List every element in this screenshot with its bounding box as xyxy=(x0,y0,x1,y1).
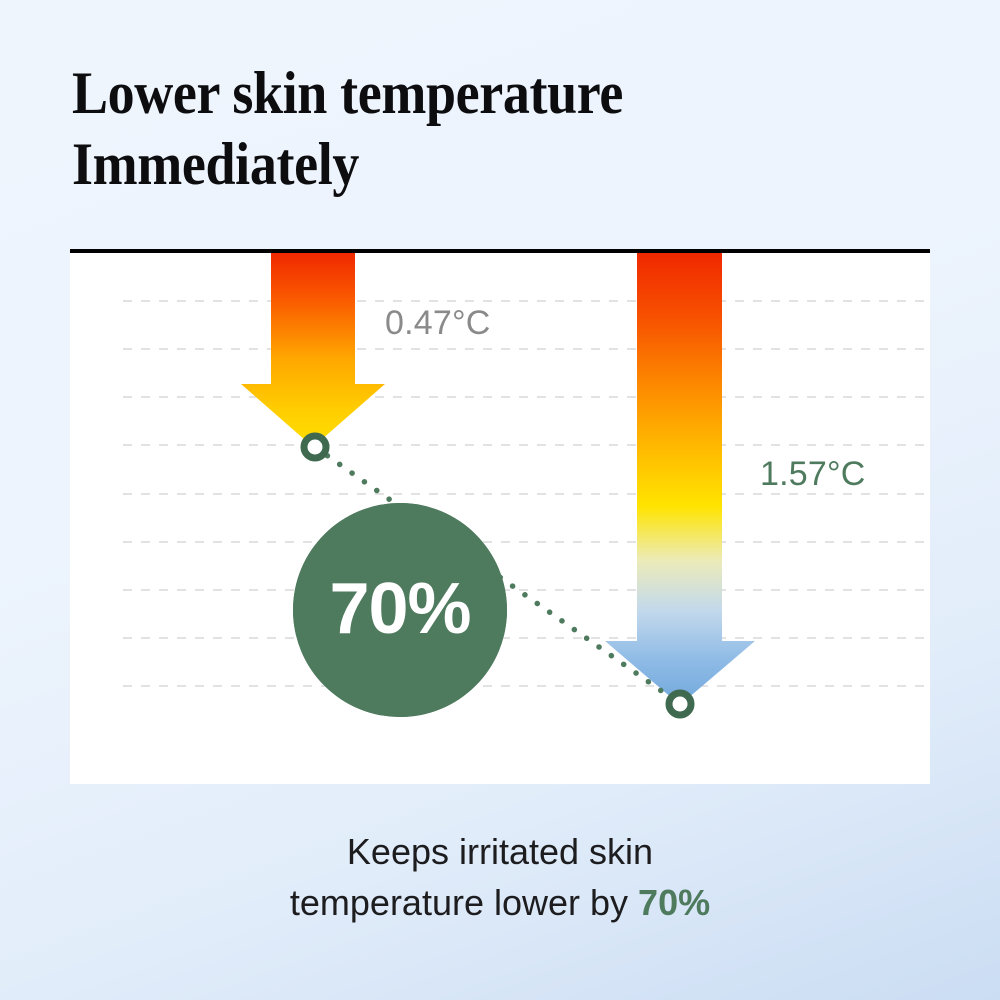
chart-graphic xyxy=(70,253,930,784)
caption-highlight: 70% xyxy=(638,882,710,923)
reduction-badge: 70% xyxy=(293,503,507,717)
reduction-badge-label: 70% xyxy=(329,573,470,645)
page-title: Lower skin temperature Immediately xyxy=(72,58,819,200)
caption-line-1: Keeps irritated skin xyxy=(0,826,1000,877)
caption-line-2-prefix: temperature lower by xyxy=(290,882,638,923)
caption: Keeps irritated skin temperature lower b… xyxy=(0,826,1000,928)
value-label-large: 1.57°C xyxy=(760,455,866,494)
caption-line-2: temperature lower by 70% xyxy=(0,877,1000,928)
chart-card: 70% xyxy=(70,249,930,784)
arrow-small-0-47 xyxy=(241,253,385,447)
value-label-small: 0.47°C xyxy=(385,304,491,343)
infographic-root: Lower skin temperature Immediately xyxy=(0,0,1000,1000)
marker-small-value xyxy=(304,436,326,458)
marker-large-value xyxy=(669,693,691,715)
